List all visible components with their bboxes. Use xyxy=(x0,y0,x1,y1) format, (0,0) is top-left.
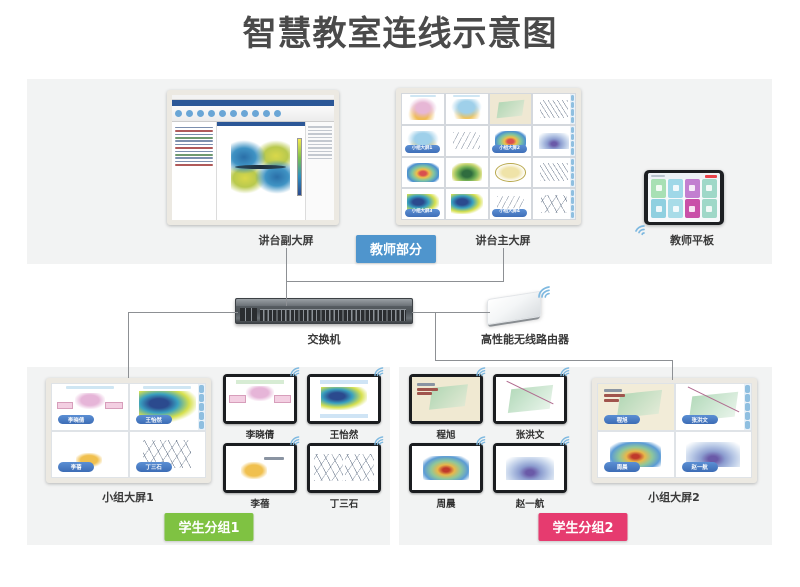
wifi-icon-router xyxy=(536,284,554,299)
student-tablet-screen xyxy=(496,446,564,490)
wifi-icon-student-7 xyxy=(475,435,488,446)
ribbon-icon xyxy=(252,110,259,117)
screen-quadrant[interactable]: 李蓓 xyxy=(51,431,129,479)
badge-student-group2: 学生分组2 xyxy=(538,513,627,541)
tablet-app-tile[interactable] xyxy=(685,179,700,198)
student-tablet-6[interactable] xyxy=(493,374,567,424)
sidebar-dot[interactable] xyxy=(571,197,574,203)
screen-quadrant[interactable]: 周晨 xyxy=(597,431,675,479)
quadrant-name: 李蓓 xyxy=(58,462,94,471)
screen-quadrant[interactable]: 程旭 xyxy=(597,383,675,431)
podium-screen-grid: 小组大屏1 小组大屏2 xyxy=(401,93,576,220)
app-icon xyxy=(656,185,662,191)
grid-cell[interactable] xyxy=(532,157,576,189)
grid-cell[interactable] xyxy=(532,125,576,157)
student-tablet-screen xyxy=(310,377,378,421)
group2-screen-grid: 程旭 张洪文 周晨 赵一航 xyxy=(597,383,752,478)
grid-cell[interactable]: 小组大屏2 xyxy=(489,125,533,157)
screen-pill-2: 小组大屏2 xyxy=(492,145,527,153)
tablet-app-tile[interactable] xyxy=(685,199,700,218)
teacher-tablet[interactable] xyxy=(644,170,724,225)
group1-big-screen[interactable]: 李晓倩 王怡然 李蓓 丁三石 xyxy=(46,378,211,483)
screen-sidebar xyxy=(198,384,205,430)
switch-chassis xyxy=(235,298,413,324)
screen-sidebar xyxy=(744,384,751,430)
wifi-icon-student-2 xyxy=(373,366,386,377)
quadrant-name: 周晨 xyxy=(604,462,640,471)
ribbon-icon xyxy=(208,110,215,117)
student-tablet-4[interactable] xyxy=(307,443,381,493)
student-tablet-8-label: 赵一航 xyxy=(493,496,567,510)
sidebar-dot[interactable] xyxy=(571,102,574,108)
student-tablet-5-label: 程旭 xyxy=(409,427,483,441)
grid-cell[interactable] xyxy=(445,93,489,125)
sidebar-dot[interactable] xyxy=(199,394,204,402)
student-tablet-3[interactable] xyxy=(223,443,297,493)
code-line xyxy=(175,161,213,163)
screen-sidebar xyxy=(570,189,575,219)
group1-big-screen-content: 李晓倩 王怡然 李蓓 丁三石 xyxy=(51,383,206,478)
line-subscreen-down xyxy=(286,248,287,281)
student-tablet-6-label: 张洪文 xyxy=(493,427,567,441)
ribbon-icon xyxy=(263,110,270,117)
student-tablet-3-label: 李蓓 xyxy=(223,496,297,510)
screen-quadrant[interactable]: 赵一航 xyxy=(675,431,753,479)
sidebar-dot[interactable] xyxy=(199,412,204,420)
screen-pill-3: 小组大屏3 xyxy=(405,209,440,217)
wifi-icon-student-8 xyxy=(559,435,572,446)
sidebar-dot[interactable] xyxy=(571,166,574,172)
workspace-row xyxy=(308,133,332,135)
sidebar-dot[interactable] xyxy=(571,180,574,186)
surface-plot xyxy=(231,136,289,199)
tablet-app-tile[interactable] xyxy=(651,199,666,218)
line-router-down xyxy=(435,312,436,360)
figure-titlebar xyxy=(217,122,305,126)
ribbon-icon xyxy=(175,110,182,117)
workspace-row xyxy=(308,130,332,132)
wifi-icon-student-1 xyxy=(289,366,302,377)
line-bus-to-group2 xyxy=(672,360,673,380)
code-line xyxy=(175,137,213,139)
grid-cell[interactable] xyxy=(445,157,489,189)
grid-cell[interactable] xyxy=(401,157,445,189)
sidebar-dot[interactable] xyxy=(199,403,204,411)
wifi-icon-student-4 xyxy=(373,435,386,446)
workspace-row xyxy=(308,154,332,156)
podium-main-screen-label: 讲台主大屏 xyxy=(476,232,531,248)
grid-cell[interactable] xyxy=(489,93,533,125)
grid-cell[interactable] xyxy=(445,188,489,220)
sidebar-dot[interactable] xyxy=(571,134,574,140)
screen-sidebar xyxy=(570,126,575,156)
switch-uplink-ports xyxy=(240,308,257,321)
ribbon-icon xyxy=(186,110,193,117)
sidebar-dot[interactable] xyxy=(571,95,574,101)
group2-big-screen-content: 程旭 张洪文 周晨 赵一航 xyxy=(597,383,752,478)
switch-top-face xyxy=(236,299,412,306)
matlab-editor-pane xyxy=(172,122,217,220)
tablet-statusbar xyxy=(648,173,720,179)
ribbon-icon xyxy=(274,110,281,117)
matlab-workspace-pane xyxy=(306,122,334,220)
student-tablet-8[interactable] xyxy=(493,443,567,493)
app-icon xyxy=(706,185,712,191)
screen-quadrant[interactable]: 李晓倩 xyxy=(51,383,129,431)
sidebar-dot[interactable] xyxy=(571,148,574,154)
app-icon xyxy=(689,185,695,191)
app-icon xyxy=(673,206,679,212)
group2-big-screen-label: 小组大屏2 xyxy=(648,489,700,505)
network-switch-label: 交换机 xyxy=(308,331,341,347)
sidebar-dot[interactable] xyxy=(745,403,750,411)
line-left-down xyxy=(128,312,129,378)
badge-student-group1: 学生分组1 xyxy=(164,513,253,541)
workspace-row xyxy=(308,151,332,153)
podium-main-screen[interactable]: 小组大屏1 小组大屏2 xyxy=(396,88,581,225)
line-switch-left xyxy=(128,312,238,313)
screen-quadrant[interactable]: 张洪文 xyxy=(675,383,753,431)
sidebar-dot[interactable] xyxy=(745,412,750,420)
workspace-row xyxy=(308,126,332,128)
screen-quadrant[interactable]: 丁三石 xyxy=(129,431,207,479)
workspace-row xyxy=(308,144,332,146)
sidebar-dot[interactable] xyxy=(745,394,750,402)
code-line xyxy=(175,144,213,146)
sidebar-dot[interactable] xyxy=(571,127,574,133)
student-tablet-screen xyxy=(412,377,480,421)
code-line xyxy=(175,134,213,136)
screen-sidebar xyxy=(570,94,575,124)
page-title: 智慧教室连线示意图 xyxy=(0,6,800,55)
app-icon xyxy=(673,185,679,191)
ribbon-icon xyxy=(219,110,226,117)
student-tablet-2-label: 王怡然 xyxy=(307,427,381,441)
group2-big-screen[interactable]: 程旭 张洪文 周晨 赵一航 xyxy=(592,378,757,483)
screen-quadrant[interactable]: 王怡然 xyxy=(129,383,207,431)
screen-sidebar xyxy=(570,158,575,188)
tablet-app-tile[interactable] xyxy=(651,179,666,198)
podium-secondary-screen[interactable] xyxy=(167,90,339,225)
ribbon-icon xyxy=(241,110,248,117)
ribbon-icon xyxy=(197,110,204,117)
student-tablet-screen xyxy=(496,377,564,421)
tablet-app-grid xyxy=(651,179,717,218)
sidebar-dot[interactable] xyxy=(571,141,574,147)
group1-screen-grid: 李晓倩 王怡然 李蓓 丁三石 xyxy=(51,383,206,478)
student-tablet-1[interactable] xyxy=(223,374,297,424)
sidebar-dot[interactable] xyxy=(745,385,750,393)
workspace-row xyxy=(308,137,332,139)
student-tablet-1-label: 李晓倩 xyxy=(223,427,297,441)
quadrant-name: 王怡然 xyxy=(136,415,172,424)
sidebar-dot[interactable] xyxy=(571,109,574,115)
grid-cell[interactable] xyxy=(532,93,576,125)
line-mainscreen-down xyxy=(503,248,504,281)
podium-main-screen-content: 小组大屏1 小组大屏2 xyxy=(401,93,576,220)
quadrant-name: 李晓倩 xyxy=(58,415,94,424)
tablet-app-tile[interactable] xyxy=(702,179,717,198)
sidebar-dot[interactable] xyxy=(745,421,750,429)
teacher-tablet-screen xyxy=(648,173,720,222)
student-tablet-7[interactable] xyxy=(409,443,483,493)
grid-cell[interactable] xyxy=(401,93,445,125)
matlab-ribbon xyxy=(172,106,334,122)
switch-ports xyxy=(260,309,406,321)
quadrant-name: 程旭 xyxy=(604,415,640,424)
ribbon-icon xyxy=(230,110,237,117)
grid-cell[interactable]: 小组大屏1 xyxy=(401,125,445,157)
sidebar-dot[interactable] xyxy=(199,421,204,429)
matlab-body xyxy=(172,122,334,220)
sidebar-dot[interactable] xyxy=(199,385,204,393)
student-tablet-7-label: 周晨 xyxy=(409,496,483,510)
screen-pill-4: 小组大屏4 xyxy=(492,209,527,217)
code-line xyxy=(175,130,213,132)
sidebar-dot[interactable] xyxy=(571,190,574,196)
sidebar-dot[interactable] xyxy=(571,159,574,165)
sidebar-dot[interactable] xyxy=(571,205,574,211)
podium-secondary-screen-label: 讲台副大屏 xyxy=(259,232,314,248)
tablet-record-badge[interactable] xyxy=(705,175,717,178)
workspace-row xyxy=(308,140,332,142)
wifi-icon-teacher-tablet xyxy=(630,224,647,238)
wifi-icon-student-5 xyxy=(475,366,488,377)
code-line xyxy=(175,151,213,153)
sidebar-dot[interactable] xyxy=(571,173,574,179)
code-line xyxy=(175,154,213,156)
code-line xyxy=(175,140,213,142)
code-line xyxy=(175,127,213,129)
line-bus-to-switch xyxy=(286,281,287,306)
student-tablet-4-label: 丁三石 xyxy=(307,496,381,510)
line-router-bus xyxy=(435,360,673,361)
badge-teacher-section: 教师部分 xyxy=(356,235,436,263)
sidebar-dot[interactable] xyxy=(571,117,574,123)
group1-big-screen-label: 小组大屏1 xyxy=(102,489,154,505)
grid-cell[interactable]: 小组大屏4 xyxy=(489,188,533,220)
app-icon xyxy=(656,206,662,212)
wireless-router-label: 高性能无线路由器 xyxy=(481,331,569,347)
teacher-tablet-label: 教师平板 xyxy=(670,232,714,248)
workspace-row xyxy=(308,147,332,149)
quadrant-name: 张洪文 xyxy=(682,415,718,424)
tablet-app-tile[interactable] xyxy=(668,199,683,218)
line-switch-to-router xyxy=(412,312,490,313)
code-line xyxy=(175,157,213,159)
code-line xyxy=(175,147,213,149)
app-icon xyxy=(689,206,695,212)
colorbar xyxy=(297,138,302,197)
student-tablet-5[interactable] xyxy=(409,374,483,424)
student-tablet-screen xyxy=(310,446,378,490)
workspace-row xyxy=(308,158,332,160)
grid-cell[interactable]: 小组大屏3 xyxy=(401,188,445,220)
wifi-icon-student-3 xyxy=(289,435,302,446)
grid-cell[interactable] xyxy=(445,125,489,157)
matlab-figure-pane xyxy=(217,122,306,220)
student-tablet-screen xyxy=(226,446,294,490)
quadrant-name: 丁三石 xyxy=(136,462,172,471)
router-top-face xyxy=(487,291,541,326)
sidebar-dot[interactable] xyxy=(571,212,574,218)
code-line xyxy=(175,164,213,166)
wifi-icon-student-6 xyxy=(559,366,572,377)
grid-cell[interactable] xyxy=(489,157,533,189)
app-icon xyxy=(706,206,712,212)
tablet-app-tile[interactable] xyxy=(668,179,683,198)
tablet-title-stub xyxy=(651,175,665,177)
student-tablet-screen xyxy=(226,377,294,421)
student-tablet-2[interactable] xyxy=(307,374,381,424)
tablet-app-tile[interactable] xyxy=(702,199,717,218)
podium-secondary-screen-content xyxy=(172,95,334,220)
line-teacher-bus xyxy=(286,281,504,282)
student-tablet-screen xyxy=(412,446,480,490)
screen-pill-1: 小组大屏1 xyxy=(405,145,440,153)
quadrant-name: 赵一航 xyxy=(682,462,718,471)
grid-cell[interactable] xyxy=(532,188,576,220)
network-switch[interactable] xyxy=(235,298,413,324)
